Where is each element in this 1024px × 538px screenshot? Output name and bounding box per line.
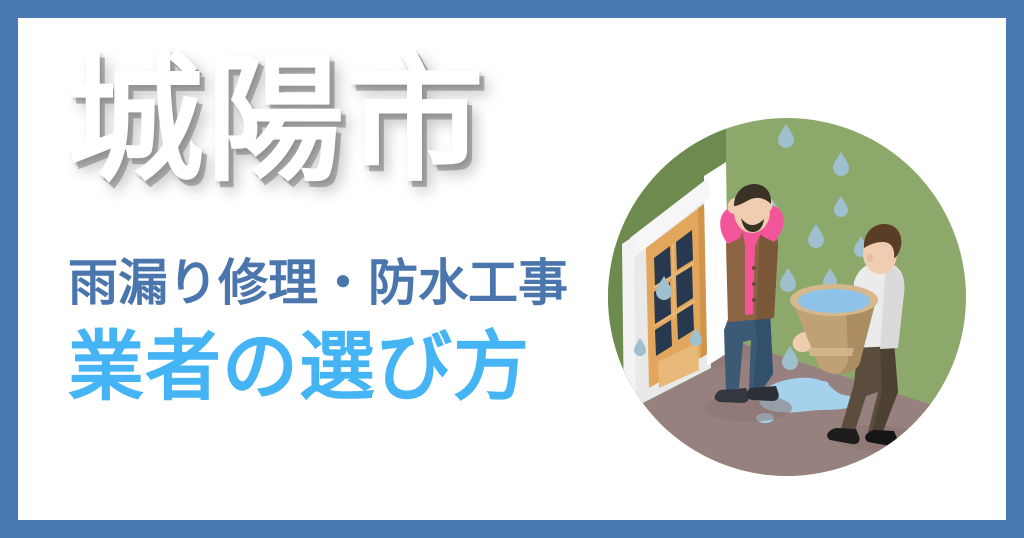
person-one-shoe-left bbox=[715, 388, 749, 403]
person-two-ear bbox=[867, 254, 873, 262]
illustration-circle-scene bbox=[608, 118, 966, 476]
headline-group: 城陽市 雨漏り修理・防水工事 業者の選び方 bbox=[52, 30, 612, 460]
bucket-band bbox=[808, 348, 854, 356]
puddle-splash-1 bbox=[817, 381, 829, 389]
banner-frame: 城陽市 雨漏り修理・防水工事 業者の選び方 bbox=[0, 0, 1024, 538]
bucket-water bbox=[798, 289, 870, 313]
page-title-city: 城陽市 bbox=[66, 52, 486, 190]
banner-content: 城陽市 雨漏り修理・防水工事 業者の選び方 bbox=[18, 18, 1006, 520]
door-frame-left bbox=[622, 236, 636, 418]
person-one-shoe-right bbox=[747, 386, 779, 401]
illustration-roof-leak bbox=[608, 118, 966, 476]
subtitle-services: 雨漏り修理・防水工事 bbox=[68, 258, 568, 308]
headline-how-to-choose: 業者の選び方 bbox=[68, 330, 530, 406]
